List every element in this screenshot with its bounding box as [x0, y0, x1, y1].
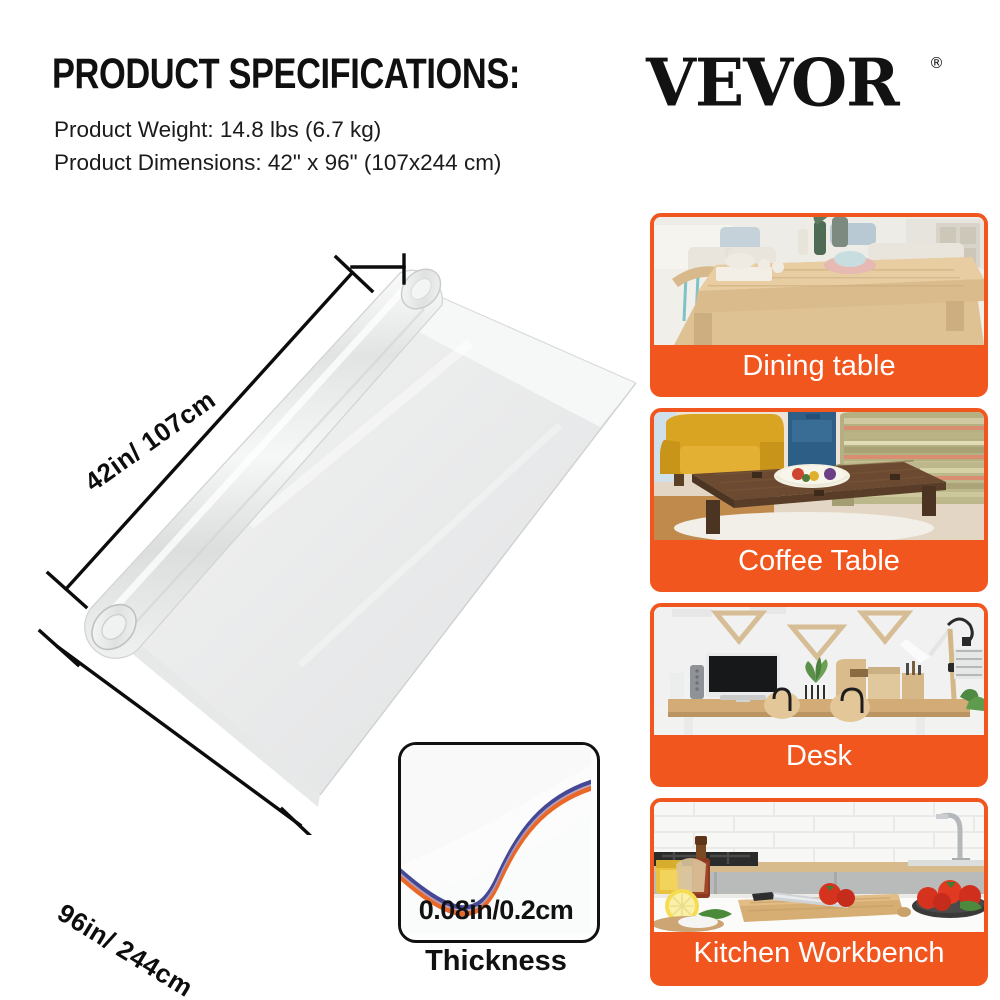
- pvc-mat-graphic: [0, 195, 660, 835]
- use-case-card-kitchen-workbench[interactable]: Kitchen Workbench: [650, 798, 988, 986]
- home-office-scene-icon: [654, 607, 984, 735]
- use-case-photo-kitchen-workbench: [654, 802, 984, 932]
- use-case-label-coffee-table: Coffee Table: [654, 540, 984, 585]
- registered-trademark-icon: ®: [929, 54, 944, 72]
- use-case-photo-coffee-table: [654, 412, 984, 540]
- use-case-photo-desk: [654, 607, 984, 735]
- living-room-scene-icon: [654, 412, 984, 540]
- dimension-label-length: 96in/ 244cm: [52, 897, 199, 1000]
- thickness-caption: Thickness: [398, 945, 594, 978]
- use-case-card-coffee-table[interactable]: Coffee Table: [650, 408, 988, 592]
- use-case-label-kitchen-workbench: Kitchen Workbench: [654, 932, 984, 977]
- product-weight-line: Product Weight: 14.8 lbs (6.7 kg): [54, 117, 381, 143]
- dining-room-scene-icon: [654, 217, 984, 345]
- page-title: PRODUCT SPECIFICATIONS:: [52, 50, 520, 99]
- use-case-card-dining-table[interactable]: Dining table: [650, 213, 988, 397]
- product-illustration: 42in/ 107cm 96in/ 244cm: [0, 195, 660, 835]
- use-case-photo-dining-table: [654, 217, 984, 345]
- kitchen-scene-icon: [654, 802, 984, 932]
- use-case-card-desk[interactable]: Desk: [650, 603, 988, 787]
- use-case-label-desk: Desk: [654, 735, 984, 780]
- thickness-value: 0.08in/0.2cm: [398, 895, 594, 926]
- use-case-label-dining-table: Dining table: [654, 345, 984, 390]
- brand-logo: VEVOR ®: [646, 48, 976, 112]
- product-spec-page: PRODUCT SPECIFICATIONS: Product Weight: …: [0, 0, 1000, 1000]
- brand-wordmark: VEVOR: [646, 44, 899, 121]
- product-dimensions-line: Product Dimensions: 42" x 96" (107x244 c…: [54, 150, 501, 176]
